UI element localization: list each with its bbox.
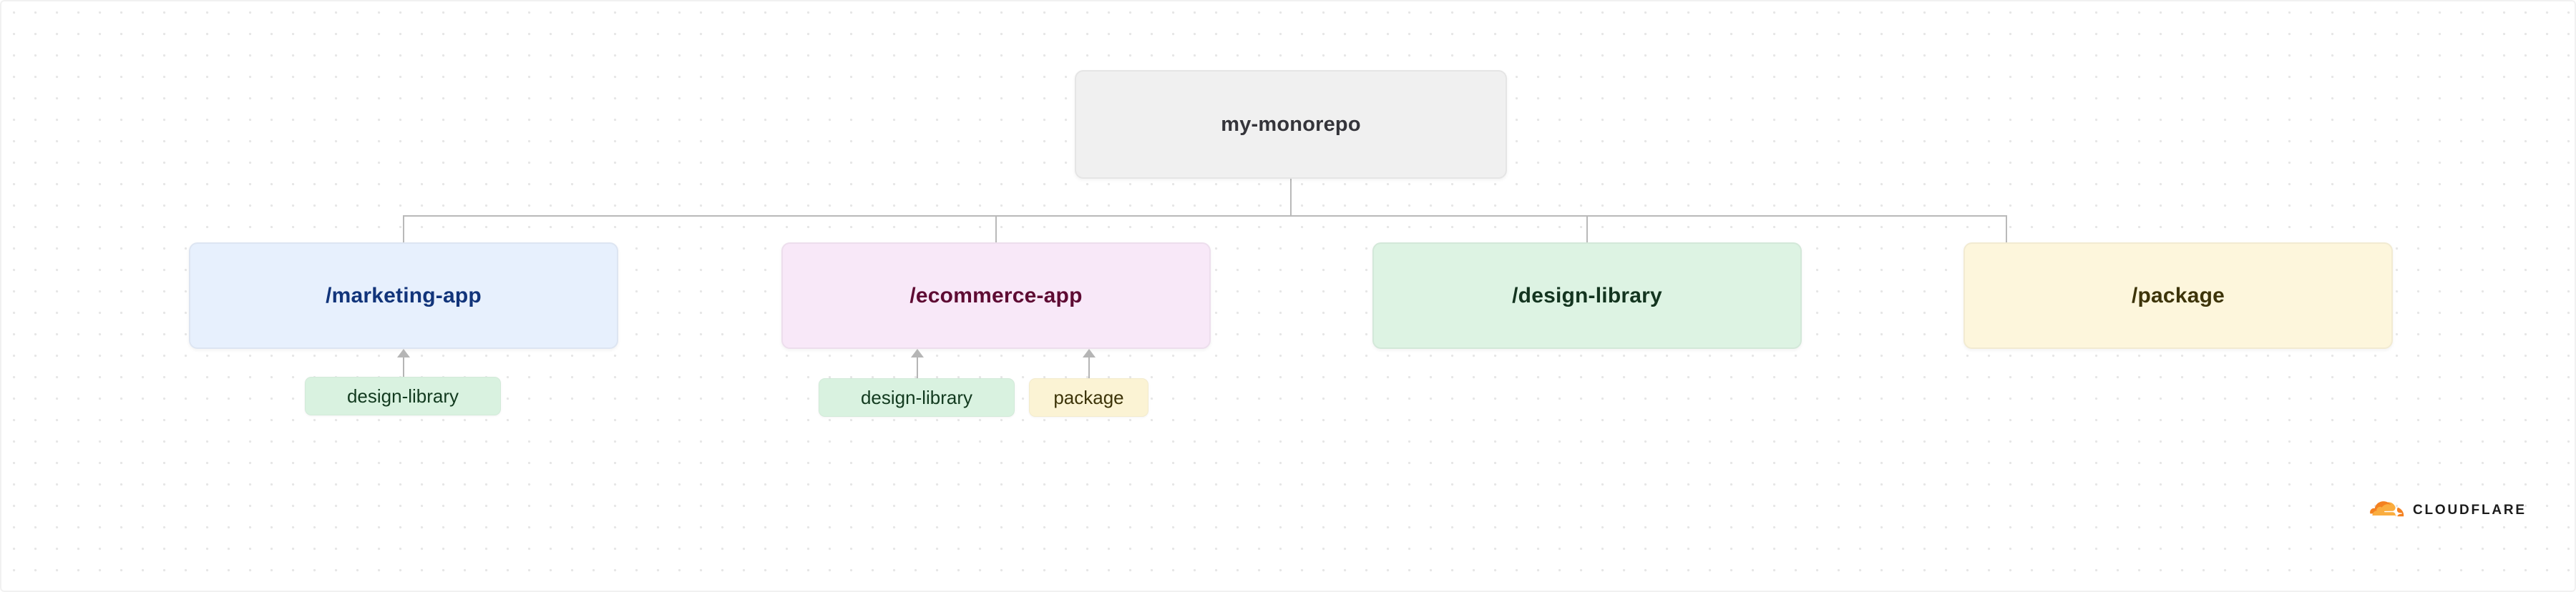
node-label: /marketing-app [326,284,482,308]
cloudflare-logo: CLOUDFLARE [2362,498,2527,523]
edge-root-stem [1290,179,1292,216]
dependency-chip-label: design-library [347,385,459,408]
dependency-chip-ecommerce-package[interactable]: package [1029,378,1148,417]
node-ecommerce-app[interactable]: /ecommerce-app [781,242,1211,349]
dep-arrow-head-ecommerce-design-library [911,349,924,357]
dep-arrow-head-marketing-design-library [397,349,410,357]
edge-drop-package [2006,215,2007,243]
dependency-chip-label: design-library [861,387,972,409]
node-design-library[interactable]: /design-library [1372,242,1802,349]
dep-arrow-head-ecommerce-package [1083,349,1096,357]
cloudflare-wordmark: CLOUDFLARE [2413,503,2527,518]
node-marketing-app[interactable]: /marketing-app [189,242,618,349]
edge-horizontal-bus [403,215,2007,217]
cloudflare-cloud-icon [2362,498,2406,523]
edge-drop-ecommerce [995,215,997,243]
node-label: /ecommerce-app [909,284,1082,308]
dependency-chip-label: package [1053,387,1123,409]
edge-drop-design-library [1586,215,1588,243]
node-my-monorepo[interactable]: my-monorepo [1075,70,1507,179]
dependency-chip-ecommerce-design-library[interactable]: design-library [819,378,1015,417]
edge-drop-marketing [403,215,404,243]
node-label: my-monorepo [1221,113,1361,137]
diagram-canvas: my-monorepo /marketing-app /ecommerce-ap… [0,0,2576,592]
node-label: /package [2132,284,2225,308]
node-label: /design-library [1512,284,1662,308]
node-package[interactable]: /package [1963,242,2393,349]
dependency-chip-marketing-design-library[interactable]: design-library [305,377,501,415]
